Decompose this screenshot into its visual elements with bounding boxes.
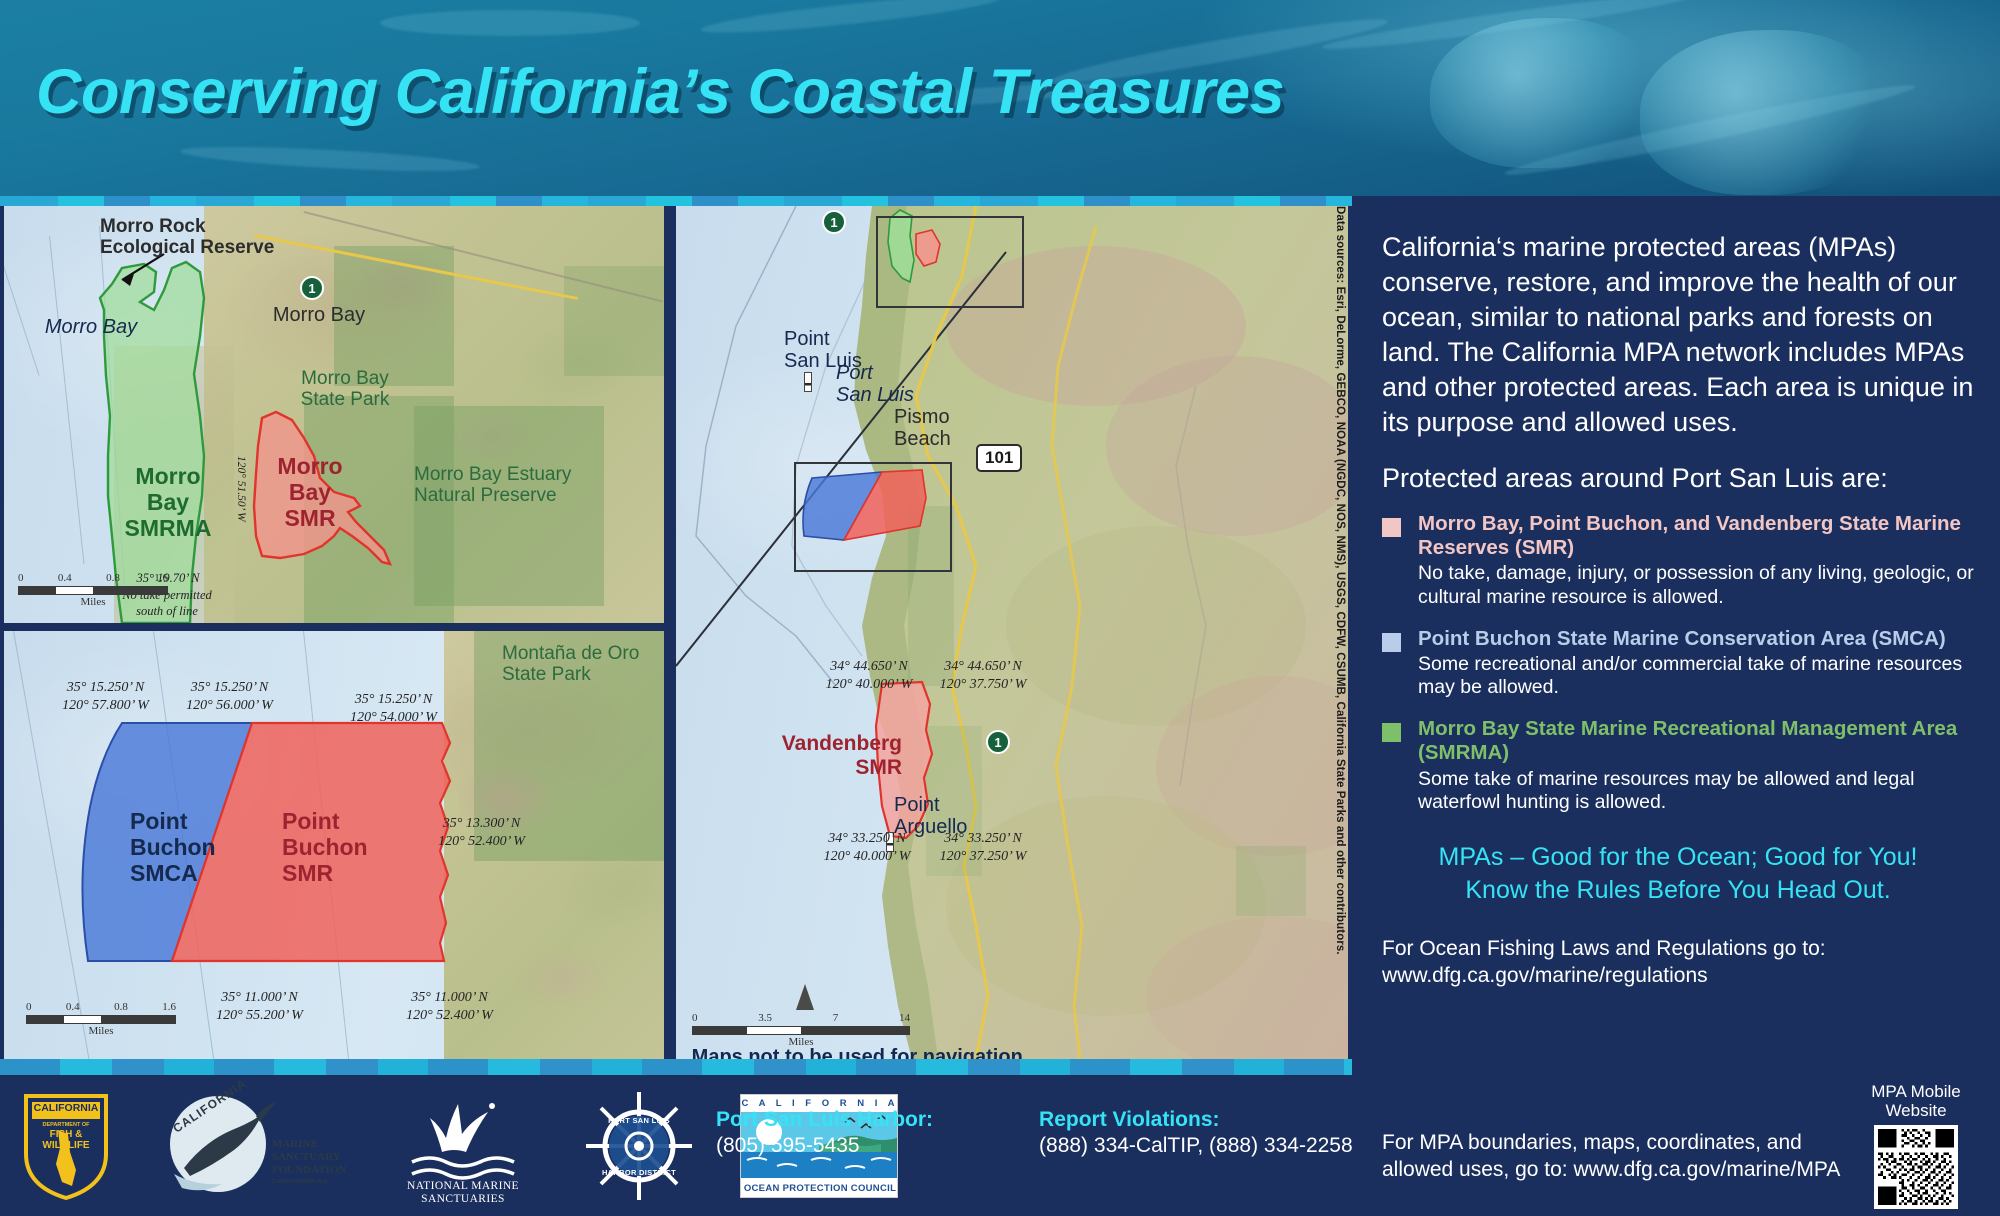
- map-area: Morro Rock Ecological Reserve 1 Morro Ba…: [0, 206, 1352, 1059]
- scale-tick: 0.4: [58, 572, 72, 584]
- scale-unit: Miles: [26, 1025, 176, 1037]
- logo-msf-line4: FOUNDATION: [272, 1164, 346, 1176]
- coord-vandenberg-se: 34° 33.250’ N120° 37.250’ W: [908, 830, 1058, 865]
- map-regional-overview[interactable]: Point San Luis Port San Luis Pismo Beach…: [676, 206, 1348, 1059]
- wave-decoration: [380, 10, 640, 36]
- scalebar-bar: [692, 1026, 910, 1035]
- legend-description-smrma: Some take of marine resources may be all…: [1418, 768, 1974, 816]
- protected-areas-subhead: Protected areas around Port San Luis are…: [1382, 463, 1974, 494]
- scale-tick: 0.8: [114, 1001, 128, 1013]
- legend-swatch-smrma: [1382, 723, 1401, 742]
- logo-nms-line1: NATIONAL MARINE: [388, 1180, 538, 1192]
- legend-title-smca: Point Buchon State Marine Conservation A…: [1418, 627, 1974, 651]
- scale-tick: 0: [692, 1012, 698, 1024]
- page-title: Conserving California’s Coastal Treasure…: [36, 56, 1284, 128]
- qr-label-line-1: MPA Mobile: [1864, 1082, 1968, 1101]
- coord-pb-ne: 35° 15.250’ N120° 54.000’ W: [316, 691, 471, 726]
- scalebar-ticks: 0 0.4 0.8 1.6: [18, 572, 168, 584]
- logo-ca-fish-wildlife: CALIFORNIA DEPARTMENT OF FISH & WILDLIFE: [18, 1090, 114, 1202]
- logo-ca-marine-sanctuary-foundation: CALIFORNIA MARINE SANCTUARY FOUNDATION C…: [160, 1090, 342, 1202]
- highway-1-shield-icon: 1: [300, 276, 324, 300]
- logo-cdfw-line3: FISH &: [18, 1129, 114, 1140]
- sunfish-illustration: [1430, 18, 1660, 168]
- scale-tick: 1.6: [162, 1001, 176, 1013]
- logo-psl-line1: PORT SAN LUIS: [584, 1116, 694, 1125]
- scale-tick: 0.8: [106, 572, 120, 584]
- legend-title-smr: Morro Bay, Point Buchon, and Vandenberg …: [1418, 512, 1974, 560]
- legend-swatch-smr: [1382, 518, 1401, 537]
- legend-description-smca: Some recreational and/or commercial take…: [1418, 653, 1974, 701]
- morro-rock-pointer-arrow: [4, 206, 664, 623]
- contact-info-row: Port San Luis Harbor: (805) 595-5435 Rep…: [716, 1108, 1353, 1158]
- legend-item-smca: Point Buchon State Marine Conservation A…: [1382, 627, 1974, 701]
- contact-title: Port San Luis Harbor:: [716, 1108, 933, 1132]
- logo-msf-line5: CaliforniaMSF.org: [272, 1178, 327, 1185]
- scalebar-bar: [26, 1015, 176, 1024]
- regulations-url[interactable]: www.dfg.ca.gov/marine/regulations: [1382, 963, 1974, 990]
- wave-decoration: [180, 142, 481, 176]
- lighthouse-icon-point-san-luis: [804, 372, 812, 392]
- legend-item-smr: Morro Bay, Point Buchon, and Vandenberg …: [1382, 512, 1974, 610]
- logo-msf-line2: MARINE: [272, 1138, 318, 1150]
- scalebar-bar: [18, 586, 168, 595]
- qr-code-mpa-mobile[interactable]: [1874, 1125, 1958, 1209]
- scale-tick: 0: [18, 572, 24, 584]
- contact-value: (888) 334-CalTIP, (888) 334-2258: [1039, 1134, 1353, 1158]
- logo-nms-line2: SANCTUARIES: [388, 1193, 538, 1205]
- logo-national-marine-sanctuaries: NATIONAL MARINE SANCTUARIES: [388, 1090, 538, 1202]
- coord-smrma-boundary-lon: 120° 51.50’ W: [232, 456, 248, 522]
- legend-item-smrma: Morro Bay State Marine Recreational Mana…: [1382, 717, 1974, 815]
- coord-pb-n-mid: 35° 15.250’ N120° 56.000’ W: [152, 679, 307, 714]
- logo-cdfw-line4: WILDLIFE: [18, 1140, 114, 1151]
- scale-tick: 14: [899, 1012, 910, 1024]
- logo-port-san-luis-harbor-district: PORT SAN LUIS HARBOR DISTRICT: [584, 1090, 694, 1202]
- logo-cdfw-line2: DEPARTMENT OF: [18, 1122, 114, 1128]
- coord-pb-e: 35° 13.300’ N120° 52.400’ W: [404, 815, 559, 850]
- coord-pb-se: 35° 11.000’ N120° 52.400’ W: [372, 989, 527, 1024]
- qr-section: MPA Mobile Website: [1864, 1082, 1968, 1209]
- map-morro-bay-detail[interactable]: Morro Rock Ecological Reserve 1 Morro Ba…: [4, 206, 664, 623]
- logo-opc-line2: OCEAN PROTECTION COUNCIL: [741, 1183, 899, 1194]
- map-point-buchon-detail[interactable]: Point Buchon SMCA Point Buchon SMR Monta…: [4, 631, 664, 1059]
- scale-tick: 7: [833, 1012, 839, 1024]
- scalebar-morro-bay: 0 0.4 0.8 1.6 Miles: [18, 572, 168, 608]
- contact-port-san-luis-harbor: Port San Luis Harbor: (805) 595-5435: [716, 1108, 933, 1158]
- legend-description-smr: No take, damage, injury, or possession o…: [1418, 562, 1974, 610]
- regulations-info: For Ocean Fishing Laws and Regulations g…: [1382, 936, 1974, 990]
- header-banner: Conserving California’s Coastal Treasure…: [0, 0, 2000, 196]
- slogan-line-2: Know the Rules Before You Head Out.: [1382, 874, 1974, 907]
- inset-box-morro-bay: [876, 216, 1024, 308]
- contact-value: (805) 595-5435: [716, 1134, 933, 1158]
- poster: Conserving California’s Coastal Treasure…: [0, 0, 2000, 1216]
- intro-paragraph: California‘s marine protected areas (MPA…: [1382, 230, 1974, 441]
- wave-decoration: [700, 0, 1000, 40]
- scalebar-point-buchon: 0 0.4 0.8 1.6 Miles: [26, 1001, 176, 1037]
- contact-report-violations: Report Violations: (888) 334-CalTIP, (88…: [1039, 1108, 1353, 1158]
- regulations-label: For Ocean Fishing Laws and Regulations g…: [1382, 936, 1974, 963]
- scale-tick: 3.5: [758, 1012, 772, 1024]
- qr-label: MPA Mobile Website: [1864, 1082, 1968, 1120]
- scale-tick: 1.6: [154, 572, 168, 584]
- highway-1-shield-icon-south: 1: [986, 730, 1010, 754]
- scale-tick: 0: [26, 1001, 32, 1013]
- coord-pb-sw: 35° 11.000’ N120° 55.200’ W: [182, 989, 337, 1024]
- logo-cdfw-line1: CALIFORNIA: [18, 1102, 114, 1114]
- logo-msf-line3: SANCTUARY: [272, 1151, 341, 1163]
- coord-vandenberg-ne: 34° 44.650’ N120° 37.750’ W: [908, 658, 1058, 693]
- inset-box-point-buchon: [794, 462, 952, 572]
- scalebar-ticks: 0 3.5 7 14: [692, 1012, 910, 1024]
- mpa-website-info[interactable]: For MPA boundaries, maps, coordinates, a…: [1382, 1130, 1842, 1184]
- scale-tick: 0.4: [66, 1001, 80, 1013]
- north-arrow-icon: [796, 984, 814, 1010]
- scale-unit: Miles: [18, 596, 168, 608]
- vandenberg-smr-polygon: [676, 206, 1348, 1059]
- qr-label-line-2: Website: [1864, 1101, 1968, 1120]
- navigation-disclaimer: Maps not to be used for navigation.: [676, 1046, 1060, 1059]
- legend-title-smrma: Morro Bay State Marine Recreational Mana…: [1418, 717, 1974, 765]
- contact-title: Report Violations:: [1039, 1108, 1353, 1132]
- scalebar-ticks: 0 0.4 0.8 1.6: [26, 1001, 176, 1013]
- footer-accent-strip: [0, 1059, 1352, 1075]
- map-data-sources-credit: Data sources: Esri, DeLorme, GEBCO, NOAA…: [1334, 206, 1346, 846]
- mpa-slogan: MPAs – Good for the Ocean; Good for You!…: [1382, 841, 1974, 906]
- highway-101-shield-icon: 101: [976, 444, 1022, 472]
- info-panel: California‘s marine protected areas (MPA…: [1352, 196, 2000, 1216]
- scalebar-regional: 0 3.5 7 14 Miles: [692, 1012, 910, 1048]
- sunfish-illustration: [1640, 30, 1890, 195]
- slogan-line-1: MPAs – Good for the Ocean; Good for You!: [1382, 841, 1974, 874]
- legend-swatch-smca: [1382, 633, 1401, 652]
- highway-1-shield-icon-north: 1: [822, 210, 846, 234]
- logo-psl-line2: HARBOR DISTRICT: [584, 1168, 694, 1177]
